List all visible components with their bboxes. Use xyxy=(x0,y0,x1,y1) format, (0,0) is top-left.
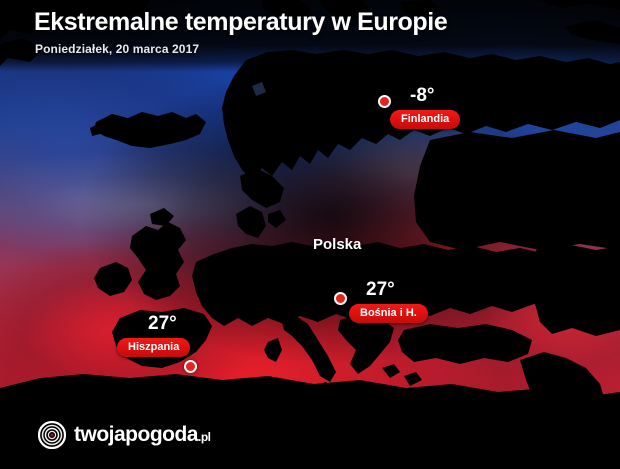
site-logo[interactable]: twojapogoda.pl xyxy=(38,421,211,449)
marker-label-hiszpania[interactable]: Hiszpania xyxy=(117,338,190,357)
marker-dot-bosnia xyxy=(334,292,347,305)
page-title: Ekstremalne temperatury w Europie xyxy=(34,8,447,37)
marker-temp-hiszpania: 27° xyxy=(148,313,177,335)
marker-temp-finlandia: -8° xyxy=(410,85,435,107)
marker-temp-bosnia: 27° xyxy=(366,279,395,301)
map-label-polska: Polska xyxy=(313,236,361,253)
logo-tld: .pl xyxy=(198,430,211,444)
marker-label-bosnia[interactable]: Bośnia i H. xyxy=(349,304,428,323)
weather-map-graphic: Ekstremalne temperatury w Europie Ponied… xyxy=(0,0,620,469)
marker-dot-finlandia xyxy=(378,95,391,108)
marker-dot-hiszpania xyxy=(184,360,197,373)
logo-name: twojapogoda xyxy=(74,423,198,446)
page-subtitle: Poniedziałek, 20 marca 2017 xyxy=(35,42,199,56)
marker-label-finlandia[interactable]: Finlandia xyxy=(390,110,460,129)
logo-wordmark: twojapogoda.pl xyxy=(74,423,211,447)
radar-target-icon xyxy=(38,421,66,449)
